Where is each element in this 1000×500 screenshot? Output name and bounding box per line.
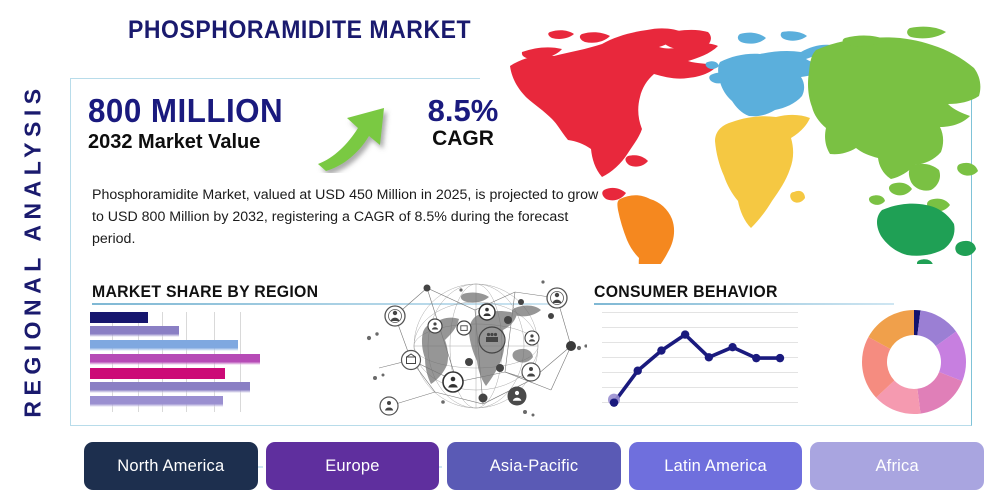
table-row [90,312,148,323]
region-button-label: Europe [325,457,379,476]
bar-1 [90,326,179,337]
table-row [90,368,225,379]
globe-network-icon [365,272,587,420]
consumer-behavior-line-chart [602,312,798,412]
region-button-label: Latin America [664,457,767,476]
page-title: PHOSPHORAMIDITE MARKET [128,16,471,45]
world-map-icon [492,14,992,264]
bar-4 [90,368,225,379]
bar-2 [90,340,238,351]
segment-donut-chart [858,306,970,418]
bar-0 [90,312,148,323]
region-button-europe[interactable]: Europe [266,442,440,490]
consumer-behavior-header: CONSUMER BEHAVIOR [594,282,778,302]
bar-5 [90,382,250,393]
table-row [90,340,238,351]
side-label: REGIONAL ANALYSIS [6,0,60,500]
region-button-north-america[interactable]: North America [84,442,258,490]
table-row [90,326,179,337]
market-share-header: MARKET SHARE BY REGION [92,282,318,302]
table-row [90,396,223,407]
infographic-canvas: REGIONAL ANALYSIS PHOSPHORAMIDITE MARKET… [0,0,1000,500]
consumer-behavior-underline [594,303,894,305]
side-label-text: REGIONAL ANALYSIS [20,83,47,417]
region-button-group: North AmericaEuropeAsia-PacificLatin Ame… [84,442,984,490]
region-button-label: Asia-Pacific [490,457,579,476]
bar-6 [90,396,223,407]
region-button-label: North America [117,457,224,476]
table-row [90,382,250,393]
market-share-bar-chart [90,312,286,412]
region-button-africa[interactable]: Africa [810,442,984,490]
bar-3 [90,354,260,365]
table-row [90,354,260,365]
growth-arrow-icon [314,88,410,173]
region-button-asia-pacific[interactable]: Asia-Pacific [447,442,621,490]
region-button-latin-america[interactable]: Latin America [629,442,803,490]
region-button-label: Africa [875,457,918,476]
